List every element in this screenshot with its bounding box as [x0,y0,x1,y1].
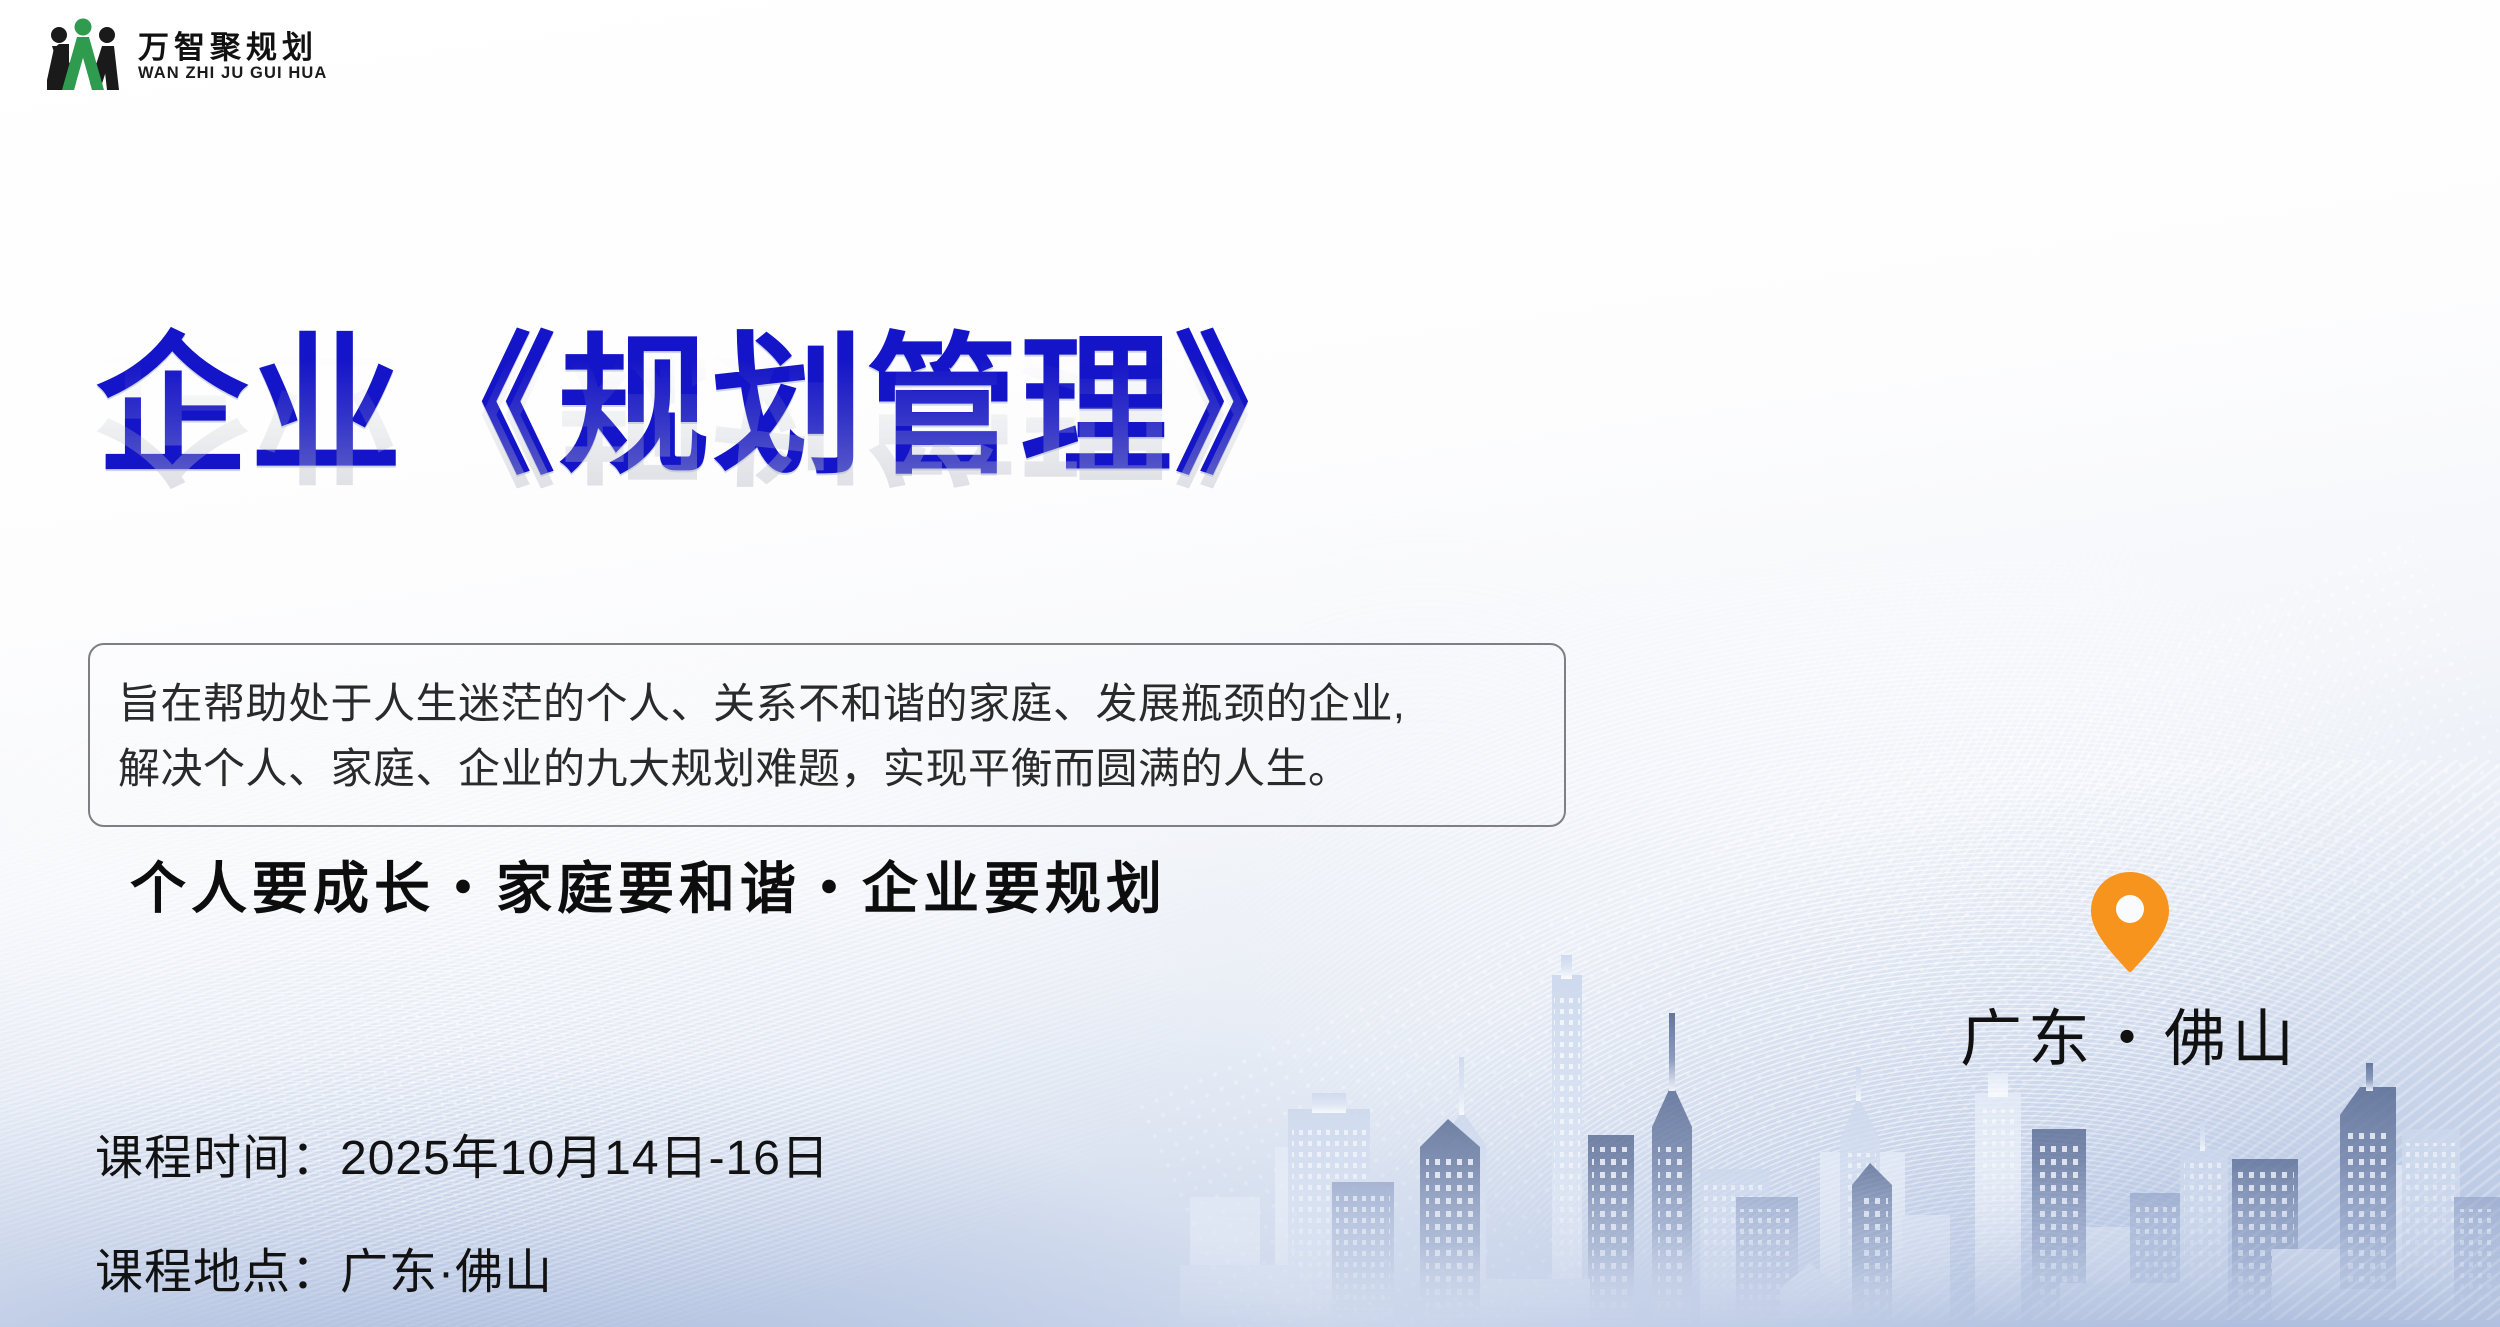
description-line-2: 解决个人、家庭、企业的九大规划难题，实现平衡而圆满的人生。 [118,736,1536,801]
poster-canvas: 万智聚规划 WAN ZHI JU GUI HUA 企业《规划管理》 企业《规划管… [0,0,2500,1327]
brand-logo-text: 万智聚规划 WAN ZHI JU GUI HUA [138,32,327,83]
location-block: 广东・佛山 [1960,870,2300,1078]
course-info: 课程时间：2025年10月14日-16日 课程地点：广东·佛山 [95,1118,830,1302]
course-place: 课程地点：广东·佛山 [95,1232,830,1302]
tagline: 个人要成长・家庭要和谐・企业要规划 [130,844,1167,925]
map-pin-icon [2087,870,2173,974]
description-line-1: 旨在帮助处于人生迷茫的个人、关系不和谐的家庭、发展瓶颈的企业, [118,671,1536,736]
brand-name-cn: 万智聚规划 [138,32,327,65]
course-time: 课程时间：2025年10月14日-16日 [95,1118,830,1188]
page-title-reflection: 企业《规划管理》 [96,327,1328,491]
description-box: 旨在帮助处于人生迷茫的个人、关系不和谐的家庭、发展瓶颈的企业, 解决个人、家庭、… [88,643,1566,827]
brand-logo[interactable]: 万智聚规划 WAN ZHI JU GUI HUA [42,18,327,96]
city-skyline-icon [1180,897,2500,1327]
three-people-m-logo-icon [42,18,124,96]
location-name: 广东・佛山 [1960,988,2300,1078]
brand-name-en: WAN ZHI JU GUI HUA [138,65,327,82]
title-block: 企业《规划管理》 企业《规划管理》 [96,325,1328,655]
